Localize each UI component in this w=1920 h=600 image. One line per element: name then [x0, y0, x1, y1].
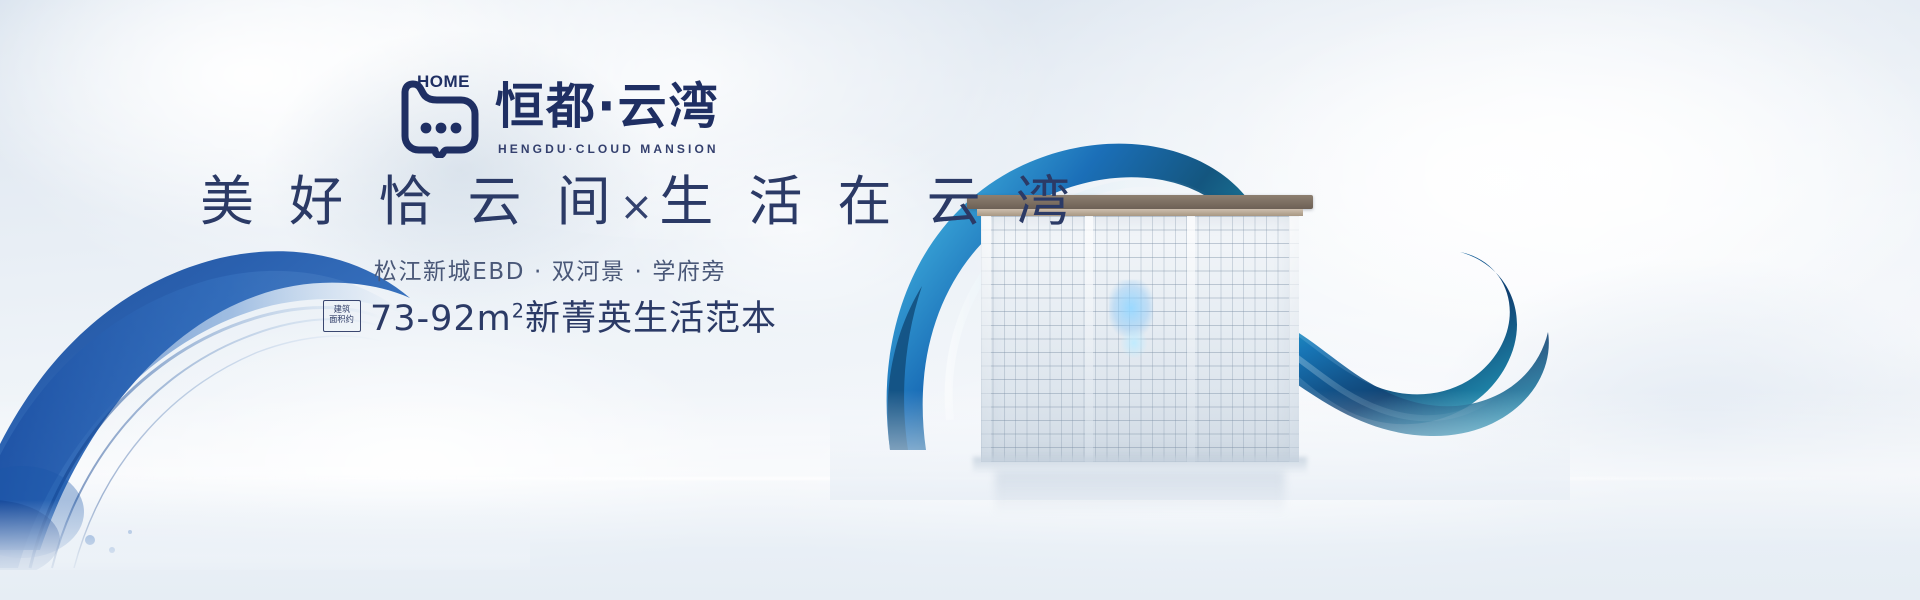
- lit-window-core: [1121, 328, 1147, 358]
- real-estate-hero-banner: HOME 恒都·云湾 HENGDU·CLOUD MANSION 美 好 恰 云 …: [0, 0, 1920, 600]
- banner-text-block: HOME 恒都·云湾 HENGDU·CLOUD MANSION 美 好 恰 云 …: [0, 0, 900, 600]
- building-facade: [981, 216, 1299, 462]
- page-title: 美 好 恰 云 间×生 活 在 云 湾: [200, 172, 900, 232]
- area-badge-line2: 面积约: [330, 316, 355, 325]
- area-value: 73-92m: [370, 299, 512, 339]
- home-speech-bubble-logo: HOME: [395, 62, 483, 158]
- residential-tower-illustration: [975, 195, 1305, 470]
- building-reflection: [995, 471, 1285, 515]
- area-statement: 73-92m2新菁英生活范本: [370, 290, 777, 341]
- brand-name-group: 恒都·云湾 HENGDU·CLOUD MANSION: [495, 62, 720, 156]
- brand-name-cn: 恒都·云湾: [495, 82, 720, 131]
- area-badge-line1: 建筑: [334, 306, 351, 315]
- area-row: 建筑 面积约 73-92m2新菁英生活范本: [200, 290, 900, 341]
- logo-home-label: HOME: [417, 72, 470, 92]
- brand-name-en: HENGDU·CLOUD MANSION: [498, 142, 720, 156]
- headline-right: 生 活 在 云 湾: [659, 170, 1079, 233]
- area-suffix: 新菁英生活范本: [525, 299, 777, 339]
- area-unit-badge: 建筑 面积约: [323, 300, 361, 332]
- headline-left: 美 好 恰 云 间: [200, 170, 620, 233]
- headline-separator: ×: [620, 184, 660, 230]
- brand-lockup: HOME 恒都·云湾 HENGDU·CLOUD MANSION: [395, 62, 720, 158]
- location-subtitle: 松江新城EBD · 双河景 · 学府旁: [200, 252, 900, 286]
- area-unit-sup: 2: [512, 299, 525, 322]
